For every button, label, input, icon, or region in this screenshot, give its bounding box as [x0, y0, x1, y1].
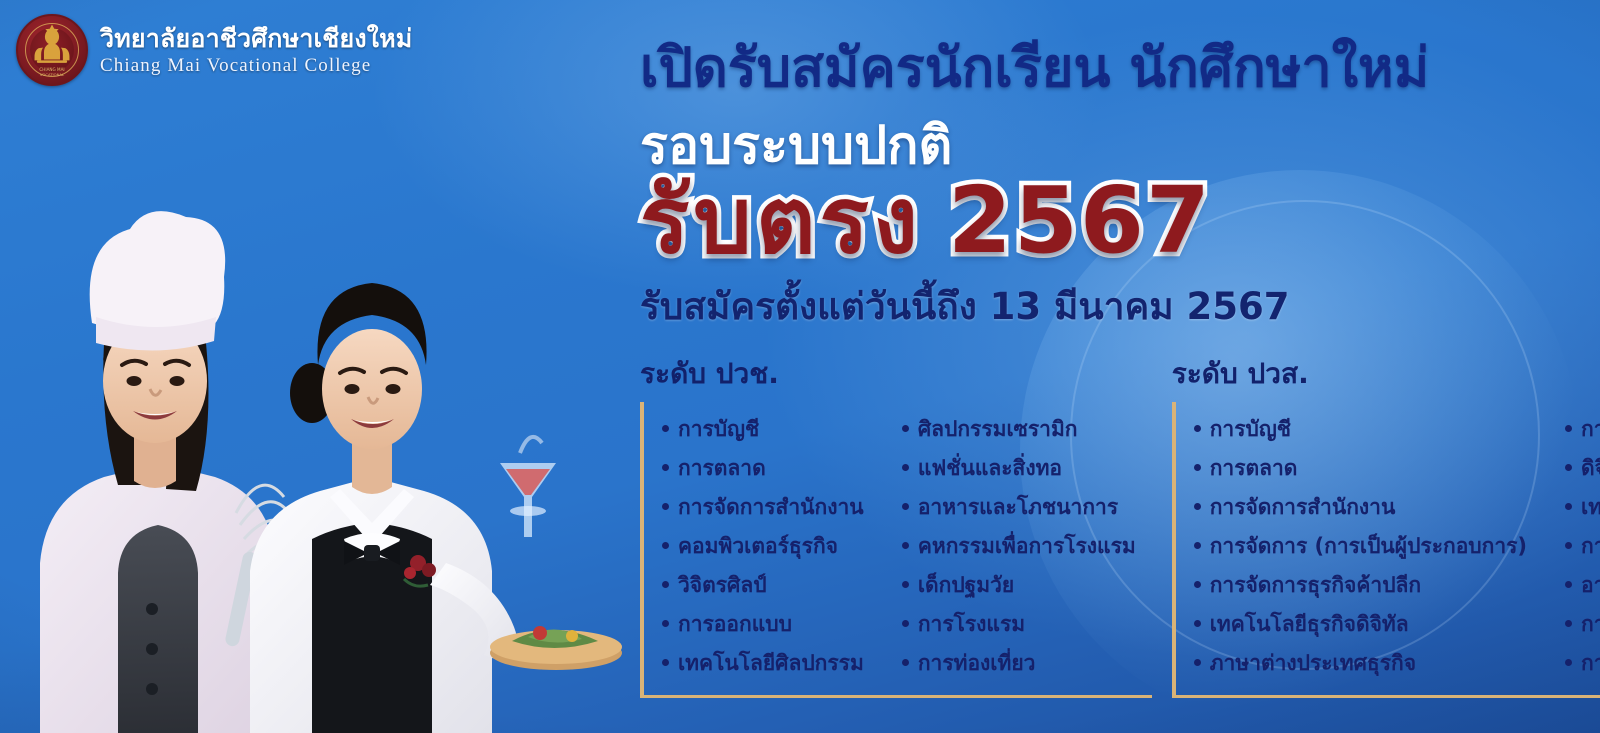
bullet-icon	[1194, 464, 1201, 471]
course-item: การโรงแรม	[884, 605, 1152, 644]
course-label: การตลาด	[678, 458, 766, 479]
bullet-icon	[662, 542, 669, 549]
college-name-th: วิทยาลัยอาชีวศึกษาเชียงใหม่	[100, 26, 413, 51]
course-item: เทคโนโลยีธุรกิจดิจิทัล	[1176, 605, 1543, 644]
course-label: ศิลปกรรมเซรามิก	[918, 419, 1078, 440]
course-item: การบัญชี	[1176, 410, 1543, 449]
level-pvs-column-1: การบัญชี การตลาด การจัดการสำนักงาน การจั…	[1176, 410, 1543, 683]
level-pvch: ระดับ ปวช. การบัญชี การตลาด การจัดการสำน…	[640, 352, 1152, 698]
course-label: การตลาด	[1210, 458, 1298, 479]
course-label: การจัดการสำนักงาน	[678, 497, 864, 518]
course-item: เด็กปฐมวัย	[884, 566, 1152, 605]
level-pvch-column-2: ศิลปกรรมเซรามิก แฟชั่นและสิ่งทอ อาหารและ…	[884, 410, 1152, 683]
course-label: การบัญชี	[1210, 419, 1291, 440]
headline-text: เปิดรับสมัครนักเรียน นักศึกษาใหม่	[640, 40, 1590, 97]
course-item: การบริหารงานคหกรรมศาสตร์	[1547, 527, 1600, 566]
course-label: การโรงแรม	[1581, 614, 1600, 635]
hospitality-student-photo	[250, 283, 622, 733]
bullet-icon	[662, 581, 669, 588]
svg-text:CHIANG MAI: CHIANG MAI	[39, 67, 64, 72]
level-pvch-column-1: การบัญชี การตลาด การจัดการสำนักงาน คอมพิ…	[644, 410, 880, 683]
course-item: ภาษาต่างประเทศธุรกิจ	[1176, 644, 1543, 683]
bullet-icon	[1565, 425, 1572, 432]
bullet-icon	[1565, 542, 1572, 549]
level-pvch-title: ระดับ ปวช.	[640, 352, 1152, 396]
bullet-icon	[662, 503, 669, 510]
course-item: การตลาด	[644, 449, 880, 488]
subhead-text: รอบระบบปกติ	[640, 119, 1590, 174]
course-label: การบริหารงานคหกรรมศาสตร์	[1581, 536, 1600, 557]
bullet-icon	[902, 464, 909, 471]
course-item: การจัดการ (การเป็นผู้ประกอบการ)	[1176, 527, 1543, 566]
student-photo-group	[0, 93, 640, 733]
big-year-text: 2567	[948, 167, 1212, 274]
bullet-icon	[902, 503, 909, 510]
course-label: การบัญชี	[678, 419, 759, 440]
bullet-icon	[902, 581, 909, 588]
course-label: การท่องเที่ยว	[918, 653, 1036, 674]
course-label: การจัดการ (การเป็นผู้ประกอบการ)	[1210, 536, 1527, 557]
course-label: เทคโนโลยีแฟชั่นและเครื่องแต่งกาย	[1581, 497, 1600, 518]
svg-text:VOCATIONAL: VOCATIONAL	[40, 73, 65, 77]
bullet-icon	[902, 620, 909, 627]
course-item: การจัดการสำนักงาน	[1176, 488, 1543, 527]
course-label: การท่องเที่ยว	[1581, 653, 1600, 674]
course-item: ดิจิทัลกราฟิก	[1547, 449, 1600, 488]
course-label: วิจิตรศิลป์	[678, 575, 767, 596]
course-item: การออกแบบ	[644, 605, 880, 644]
college-seal-icon: CHIANG MAI VOCATIONAL	[16, 14, 88, 86]
course-label: คอมพิวเตอร์ธุรกิจ	[678, 536, 838, 557]
course-label: ดิจิทัลกราฟิก	[1581, 458, 1600, 479]
college-name-en: Chiang Mai Vocational College	[100, 56, 413, 75]
bullet-icon	[1194, 581, 1201, 588]
course-item: อาหารและโภชนาการ	[884, 488, 1152, 527]
course-label: แฟชั่นและสิ่งทอ	[918, 458, 1062, 479]
bullet-icon	[1565, 464, 1572, 471]
bullet-icon	[662, 425, 669, 432]
course-item: เทคโนโลยีแฟชั่นและเครื่องแต่งกาย	[1547, 488, 1600, 527]
course-item: การออกแบบ	[1547, 410, 1600, 449]
bullet-icon	[902, 425, 909, 432]
course-item: การบัญชี	[644, 410, 880, 449]
bullet-icon	[1194, 503, 1201, 510]
course-label: อาหารและโภชนาการ	[918, 497, 1118, 518]
bullet-icon	[1565, 659, 1572, 666]
course-label: การจัดการธุรกิจค้าปลีก	[1210, 575, 1421, 596]
course-item: การตลาด	[1176, 449, 1543, 488]
course-item: การจัดการธุรกิจค้าปลีก	[1176, 566, 1543, 605]
bullet-icon	[1194, 425, 1201, 432]
course-label: คหกรรมเพื่อการโรงแรม	[918, 536, 1136, 557]
course-item: การท่องเที่ยว	[884, 644, 1152, 683]
course-item: อาหารและโภชนาการ	[1547, 566, 1600, 605]
course-item: คอมพิวเตอร์ธุรกิจ	[644, 527, 880, 566]
application-period-text: รับสมัครตั้งแต่วันนี้ถึง 13 มีนาคม 2567	[640, 277, 1590, 336]
course-label: การออกแบบ	[678, 614, 792, 635]
course-item: ศิลปกรรมเซรามิก	[884, 410, 1152, 449]
course-label: เด็กปฐมวัย	[918, 575, 1014, 596]
course-label: อาหารและโภชนาการ	[1581, 575, 1600, 596]
big-title-text: รับตรง	[640, 167, 922, 274]
course-item: การโรงแรม	[1547, 605, 1600, 644]
course-item: แฟชั่นและสิ่งทอ	[884, 449, 1152, 488]
course-levels: ระดับ ปวช. การบัญชี การตลาด การจัดการสำน…	[640, 352, 1590, 698]
course-label: การจัดการสำนักงาน	[1210, 497, 1396, 518]
banner-content: เปิดรับสมัครนักเรียน นักศึกษาใหม่ รอบระบ…	[640, 40, 1590, 698]
bullet-icon	[902, 542, 909, 549]
course-item: วิจิตรศิลป์	[644, 566, 880, 605]
bullet-icon	[1194, 659, 1201, 666]
bullet-icon	[1565, 503, 1572, 510]
course-label: การโรงแรม	[918, 614, 1025, 635]
big-title-block: รับตรง2567	[640, 175, 1590, 267]
level-pvs-column-2: การออกแบบ ดิจิทัลกราฟิก เทคโนโลยีแฟชั่นแ…	[1547, 410, 1600, 683]
course-item: การท่องเที่ยว	[1547, 644, 1600, 683]
bullet-icon	[1194, 542, 1201, 549]
bullet-icon	[1565, 620, 1572, 627]
level-pvs-title: ระดับ ปวส.	[1172, 352, 1600, 396]
course-label: เทคโนโลยีธุรกิจดิจิทัล	[1210, 614, 1409, 635]
course-item: คหกรรมเพื่อการโรงแรม	[884, 527, 1152, 566]
bullet-icon	[662, 659, 669, 666]
college-branding: CHIANG MAI VOCATIONAL วิทยาลัยอาชีวศึกษา…	[16, 14, 413, 86]
admission-banner: CHIANG MAI VOCATIONAL วิทยาลัยอาชีวศึกษา…	[0, 0, 1600, 733]
bullet-icon	[662, 620, 669, 627]
bullet-icon	[1565, 581, 1572, 588]
bullet-icon	[662, 464, 669, 471]
course-label: ภาษาต่างประเทศธุรกิจ	[1210, 653, 1416, 674]
course-item: เทคโนโลยีศิลปกรรม	[644, 644, 880, 683]
bullet-icon	[1194, 620, 1201, 627]
level-pvs: ระดับ ปวส. การบัญชี การตลาด การจัดการสำน…	[1172, 352, 1600, 698]
course-label: การออกแบบ	[1581, 419, 1600, 440]
bullet-icon	[902, 659, 909, 666]
course-item: การจัดการสำนักงาน	[644, 488, 880, 527]
course-label: เทคโนโลยีศิลปกรรม	[678, 653, 864, 674]
